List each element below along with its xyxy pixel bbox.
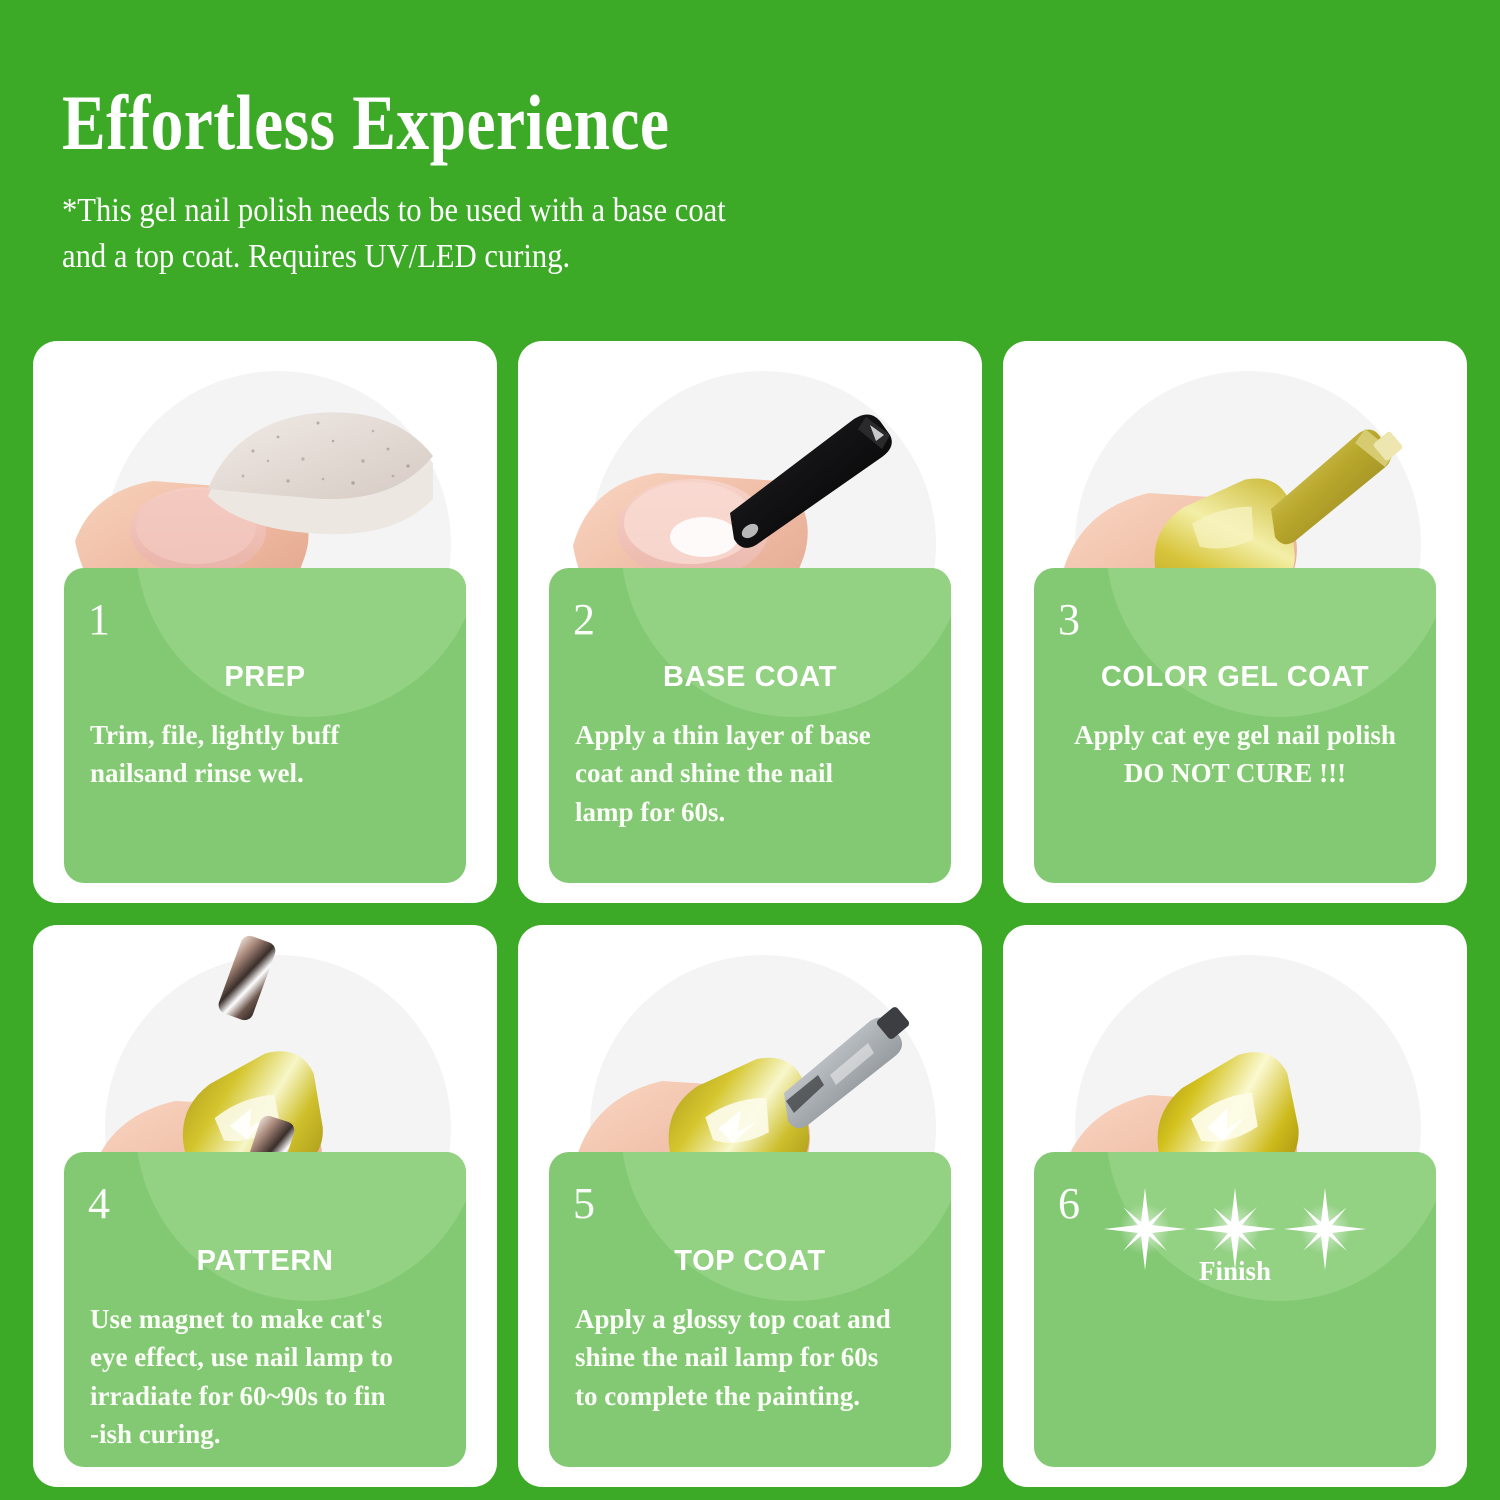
step-description-4: Use magnet to make cat's eye effect, use… xyxy=(90,1300,440,1453)
step-panel-2: 2 BASE COAT Apply a thin layer of base c… xyxy=(549,568,951,883)
steps-grid: 1 PREP Trim, file, lightly buff nailsand… xyxy=(33,341,1467,1487)
step-description-5: Apply a glossy top coat and shine the na… xyxy=(575,1300,925,1415)
step-number-1: 1 xyxy=(88,598,110,642)
step-card-4[interactable]: 4 PATTERN Use magnet to make cat's eye e… xyxy=(33,925,497,1487)
step-panel-4: 4 PATTERN Use magnet to make cat's eye e… xyxy=(64,1152,466,1467)
page-title: Effortless Experience xyxy=(62,84,1221,162)
step-panel-5: 5 TOP COAT Apply a glossy top coat and s… xyxy=(549,1152,951,1467)
finish-label: Finish xyxy=(1060,1256,1410,1287)
step-number-2: 2 xyxy=(573,598,595,642)
sparkle-group xyxy=(1060,1152,1410,1248)
step-card-1[interactable]: 1 PREP Trim, file, lightly buff nailsand… xyxy=(33,341,497,903)
step-title-2: BASE COAT xyxy=(575,662,925,694)
step-number-6: 6 xyxy=(1058,1182,1080,1226)
page-subtitle: *This gel nail polish needs to be used w… xyxy=(62,188,1304,280)
step-card-6[interactable]: 6 xyxy=(1003,925,1467,1487)
step-panel-3: 3 COLOR GEL COAT Apply cat eye gel nail … xyxy=(1034,568,1436,883)
step-description-3: Apply cat eye gel nail polish DO NOT CUR… xyxy=(1060,716,1410,793)
step-number-5: 5 xyxy=(573,1182,595,1226)
step-description-1: Trim, file, lightly buff nailsand rinse … xyxy=(90,716,440,793)
step-card-5[interactable]: 5 TOP COAT Apply a glossy top coat and s… xyxy=(518,925,982,1487)
step-number-4: 4 xyxy=(88,1182,110,1226)
step-title-5: TOP COAT xyxy=(575,1246,925,1278)
page-header: Effortless Experience *This gel nail pol… xyxy=(62,84,1442,280)
step-number-3: 3 xyxy=(1058,598,1080,642)
step-card-3[interactable]: 3 COLOR GEL COAT Apply cat eye gel nail … xyxy=(1003,341,1467,903)
step-panel-1: 1 PREP Trim, file, lightly buff nailsand… xyxy=(64,568,466,883)
step-card-2[interactable]: 2 BASE COAT Apply a thin layer of base c… xyxy=(518,341,982,903)
step-title-1: PREP xyxy=(90,662,440,694)
step-title-4: PATTERN xyxy=(90,1246,440,1278)
step-panel-6: 6 xyxy=(1034,1152,1436,1467)
step-title-3: COLOR GEL COAT xyxy=(1060,662,1410,694)
step-description-2: Apply a thin layer of base coat and shin… xyxy=(575,716,925,831)
